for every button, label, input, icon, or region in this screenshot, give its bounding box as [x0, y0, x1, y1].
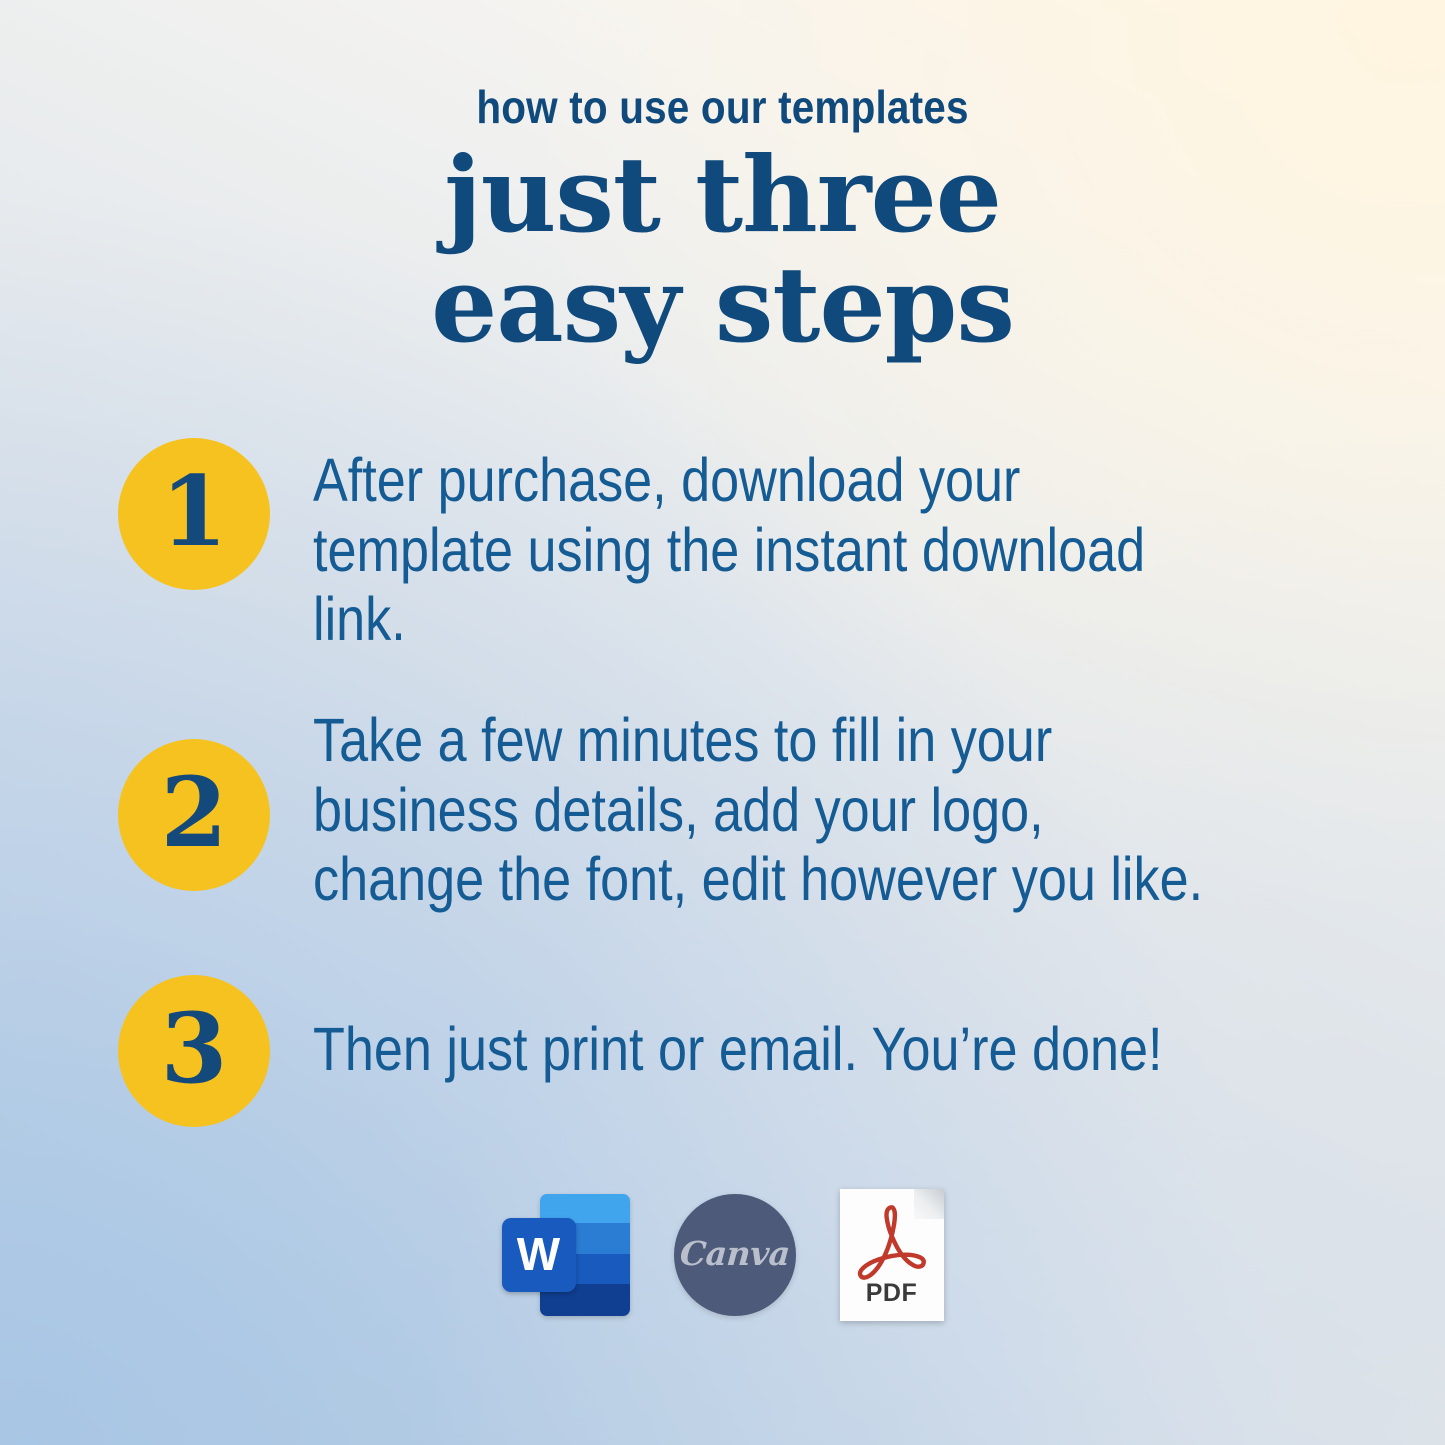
header: how to use our templates just three easy…	[0, 84, 1445, 360]
canva-icon: Canva	[674, 1194, 796, 1316]
word-badge: W	[502, 1218, 576, 1292]
page-title: just three easy steps	[0, 140, 1445, 360]
canva-wordmark: Canva	[678, 1234, 790, 1273]
eyebrow-text: how to use our templates	[87, 84, 1359, 130]
step-description: Then just print or email. You’re done!	[313, 1015, 1219, 1085]
microsoft-word-icon: W	[502, 1188, 630, 1322]
canva-circle: Canva	[674, 1194, 796, 1316]
promo-graphic: how to use our templates just three easy…	[0, 0, 1445, 1445]
pdf-label: PDF	[840, 1279, 944, 1308]
pdf-icon: PDF	[840, 1189, 944, 1321]
step-number: 1	[161, 464, 228, 560]
step-number: 3	[161, 1001, 228, 1097]
headline-line-2: easy steps	[0, 250, 1445, 360]
pdf-page-shape: PDF	[840, 1189, 944, 1321]
step-number-badge: 2	[118, 739, 270, 891]
step-number: 2	[161, 765, 228, 861]
compatible-formats-logos: W Canva PDF	[0, 1188, 1445, 1322]
headline-line-1: just three	[0, 140, 1445, 250]
adobe-acrobat-glyph	[848, 1195, 936, 1283]
step-number-badge: 1	[118, 438, 270, 590]
step-number-badge: 3	[118, 975, 270, 1127]
step-description: Take a few minutes to fill in your busin…	[313, 706, 1219, 915]
word-badge-letter: W	[517, 1231, 560, 1277]
step-description: After purchase, download your template u…	[313, 446, 1219, 655]
